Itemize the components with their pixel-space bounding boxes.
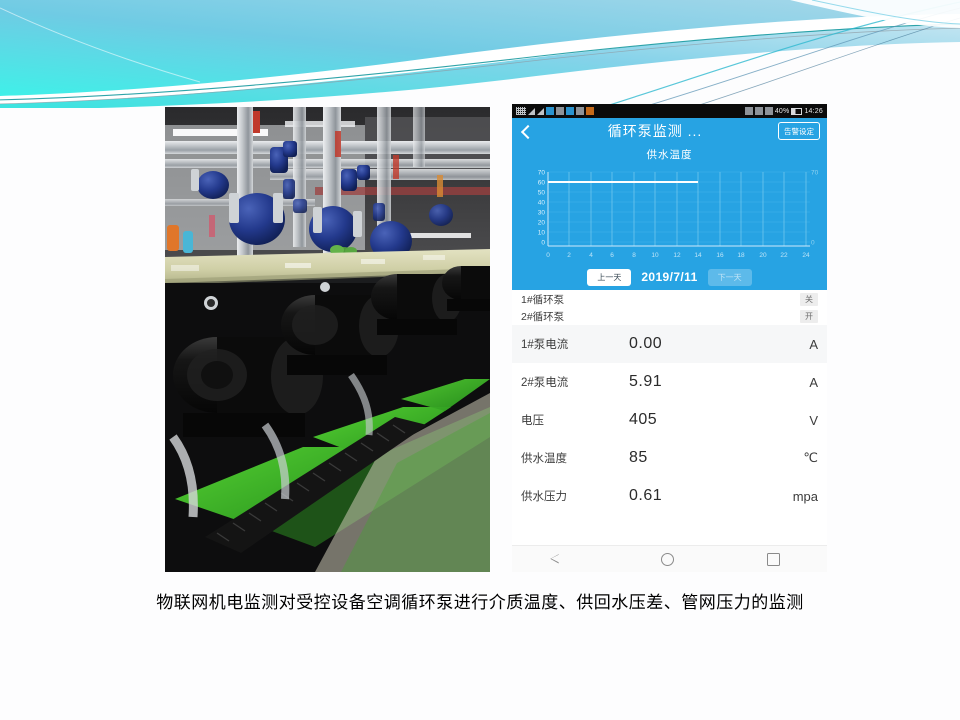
svg-text:70: 70 — [811, 170, 819, 177]
svg-text:18: 18 — [737, 252, 745, 259]
table-row[interactable]: 1#泵电流 0.00 A — [512, 325, 827, 363]
eye-icon — [745, 107, 753, 115]
prev-day-button[interactable]: 上一天 — [587, 269, 631, 286]
next-day-button[interactable]: 下一天 — [708, 269, 752, 286]
svg-text:8: 8 — [632, 252, 636, 259]
date-navigation-bar: 上一天 2019/7/11 下一天 — [512, 266, 827, 290]
svg-text:10: 10 — [538, 230, 546, 237]
chart-title: 供水温度 — [512, 146, 827, 164]
android-nav-bar — [512, 545, 827, 572]
svg-text:24: 24 — [802, 252, 810, 259]
back-chevron-icon[interactable] — [519, 125, 532, 138]
reading-label: 供水压力 — [521, 488, 629, 504]
grid-icon — [755, 107, 763, 115]
pump-status-list: 1#循环泵 关 2#循环泵 开 — [512, 290, 827, 325]
svg-text:10: 10 — [651, 252, 659, 259]
battery-percent-label: 40% — [775, 108, 790, 115]
reading-label: 电压 — [521, 412, 629, 428]
reading-unit: A — [772, 375, 818, 390]
list-item[interactable]: 1#循环泵 关 — [512, 291, 827, 308]
temperature-line-chart: 70 60 50 40 30 20 10 0 70 0 — [518, 164, 821, 266]
reading-label: 1#泵电流 — [521, 336, 629, 352]
svg-text:0: 0 — [546, 252, 550, 259]
svg-text:20: 20 — [759, 252, 767, 259]
svg-text:0: 0 — [811, 240, 815, 247]
app-icon — [576, 107, 584, 115]
svg-text:70: 70 — [538, 170, 546, 177]
svg-text:12: 12 — [673, 252, 681, 259]
svg-text:60: 60 — [538, 180, 546, 187]
back-triangle-icon[interactable] — [559, 554, 568, 564]
app-title-bar: 循环泵监测 ... 告警设定 — [512, 118, 827, 144]
svg-text:14: 14 — [694, 252, 702, 259]
slide-caption: 物联网机电监测对受控设备空调循环泵进行介质温度、供回水压差、管网压力的监测 — [0, 588, 960, 613]
current-date-label: 2019/7/11 — [641, 270, 697, 284]
table-row[interactable]: 电压 405 V — [512, 401, 827, 439]
reading-value: 0.61 — [629, 487, 772, 505]
svg-text:30: 30 — [538, 210, 546, 217]
reading-value: 405 — [629, 411, 772, 429]
list-item[interactable]: 2#循环泵 开 — [512, 308, 827, 325]
phone-screenshot: 40% 14:26 循环泵监测 ... 告警设定 供水温度 — [512, 104, 827, 572]
home-circle-icon[interactable] — [661, 553, 674, 566]
recents-square-icon[interactable] — [767, 553, 780, 566]
svg-text:20: 20 — [538, 220, 546, 227]
svg-text:2: 2 — [567, 252, 571, 259]
svg-text:16: 16 — [716, 252, 724, 259]
shield-icon — [765, 107, 773, 115]
reading-unit: mpa — [772, 489, 818, 504]
reading-label: 供水温度 — [521, 450, 629, 466]
android-status-bar: 40% 14:26 — [512, 104, 827, 118]
table-row[interactable]: 供水温度 85 ℃ — [512, 439, 827, 477]
svg-text:0: 0 — [541, 240, 545, 247]
signal-bars-icon — [528, 108, 535, 115]
message-icon — [566, 107, 574, 115]
reading-unit: V — [772, 413, 818, 428]
svg-text:22: 22 — [780, 252, 788, 259]
decorative-wave-banner — [0, 0, 960, 108]
link-icon — [556, 107, 564, 115]
app-icon — [586, 107, 594, 115]
mechanical-room-photo — [165, 107, 490, 572]
reading-unit: ℃ — [772, 450, 818, 466]
svg-text:6: 6 — [610, 252, 614, 259]
pump-label: 2#循环泵 — [521, 309, 800, 324]
alarm-settings-button[interactable]: 告警设定 — [778, 122, 820, 140]
status-badge: 关 — [800, 293, 818, 306]
reading-value: 0.00 — [629, 335, 772, 353]
svg-text:4: 4 — [589, 252, 593, 259]
readings-table: 1#泵电流 0.00 A 2#泵电流 5.91 A 电压 405 V 供水温度 … — [512, 325, 827, 515]
reading-label: 2#泵电流 — [521, 374, 629, 390]
chart-panel: 供水温度 — [512, 144, 827, 266]
wifi-icon — [546, 107, 554, 115]
presentation-slide: 40% 14:26 循环泵监测 ... 告警设定 供水温度 — [0, 0, 960, 720]
svg-text:40: 40 — [538, 200, 546, 207]
table-row[interactable]: 供水压力 0.61 mpa — [512, 477, 827, 515]
status-badge: 开 — [800, 310, 818, 323]
signal-bars-icon — [537, 108, 544, 115]
page-title: 循环泵监测 ... — [532, 121, 778, 141]
table-row[interactable]: 2#泵电流 5.91 A — [512, 363, 827, 401]
reading-value: 5.91 — [629, 373, 772, 391]
status-time-label: 14:26 — [804, 108, 823, 115]
reading-unit: A — [772, 337, 818, 352]
svg-text:50: 50 — [538, 190, 546, 197]
reading-value: 85 — [629, 449, 772, 467]
battery-icon — [791, 108, 802, 115]
signal-dots-icon — [516, 107, 526, 115]
pump-label: 1#循环泵 — [521, 292, 800, 307]
